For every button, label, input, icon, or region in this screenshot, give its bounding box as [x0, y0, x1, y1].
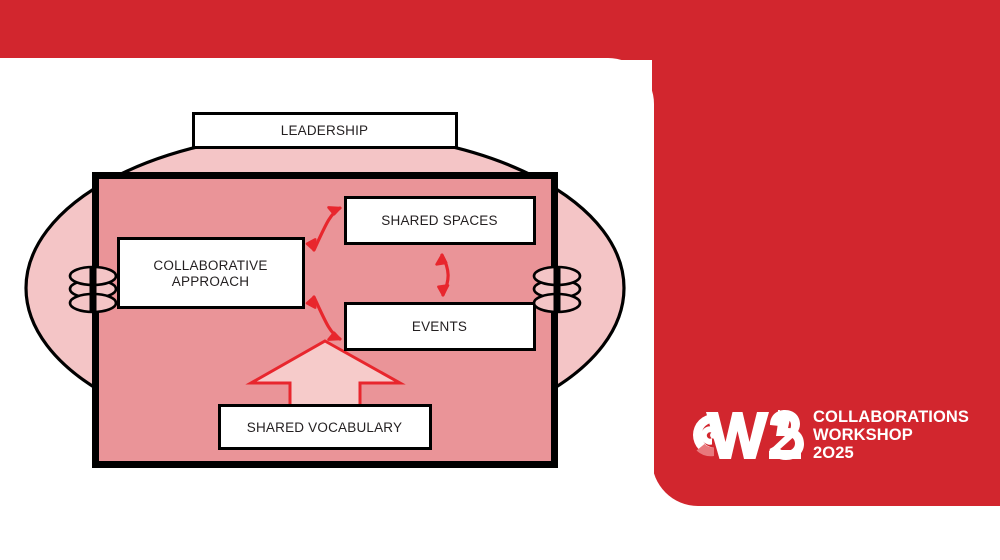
logo-line-year: 2O25 [813, 444, 969, 462]
logo-line-collaborations: COLLABORATIONS [813, 408, 969, 426]
box-collaborative-approach[interactable] [119, 239, 304, 308]
box-events[interactable] [346, 304, 535, 350]
box-shared-vocabulary[interactable] [220, 406, 431, 449]
box-shared-spaces[interactable] [346, 198, 535, 244]
cw25-logomark-icon [684, 404, 812, 466]
logo-line-workshop: WORKSHOP [813, 426, 969, 444]
diagram-canvas: LEADERSHIP COLLABORATIVE APPROACH SHARED… [0, 0, 1000, 560]
cw25-logo-wordmark: COLLABORATIONS WORKSHOP 2O25 [813, 408, 969, 462]
spring-coil-right [534, 267, 580, 313]
spring-coil-left [70, 267, 116, 313]
concept-diagram-svg [0, 0, 1000, 560]
box-leadership[interactable] [194, 114, 457, 148]
cw25-logo: COLLABORATIONS WORKSHOP 2O25 [684, 398, 974, 472]
